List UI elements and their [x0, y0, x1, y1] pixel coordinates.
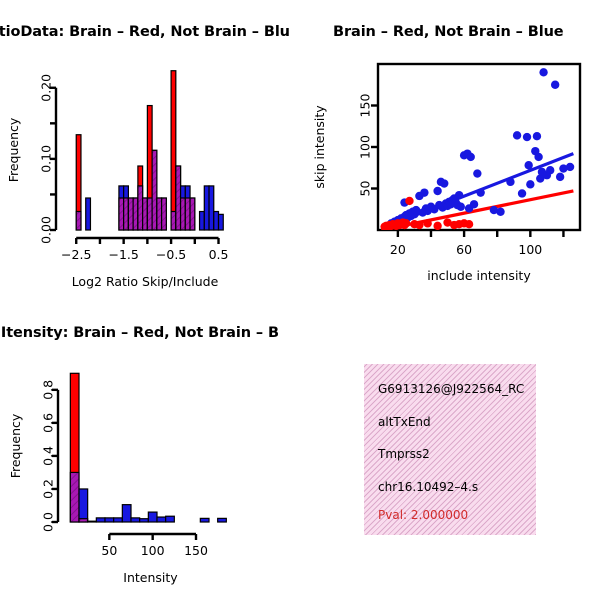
svg-text:0.8: 0.8: [41, 380, 56, 400]
svg-text:−2.5: −2.5: [61, 247, 91, 262]
info-line-probe-id: G6913126@J922564_RC: [378, 382, 536, 396]
scatter-svg: 501001502060100include intensityskip int…: [300, 50, 600, 300]
info-box-lines: G6913126@J922564_RC altTxEnd Tmprss2 chr…: [364, 364, 536, 535]
ratio-histogram-title: RatioData: Brain – Red, Not Brain – Blu: [0, 24, 290, 40]
svg-text:0.4: 0.4: [41, 446, 56, 466]
svg-text:Intensity: Intensity: [123, 570, 178, 585]
svg-text:Frequency: Frequency: [6, 117, 21, 182]
gene-intensity-title: ne Itensity: Brain – Red, Not Brain – B: [0, 325, 279, 341]
info-line-event-type: altTxEnd: [378, 415, 536, 429]
svg-text:include intensity: include intensity: [427, 268, 531, 283]
info-line-pval: Pval: 2.000000: [378, 508, 536, 522]
svg-text:0.00: 0.00: [39, 216, 54, 244]
scatter-title: Brain – Red, Not Brain – Blue: [333, 24, 564, 40]
svg-text:50: 50: [101, 543, 117, 558]
svg-text:−0.5: −0.5: [156, 247, 186, 262]
svg-text:50: 50: [358, 181, 373, 197]
svg-text:0.0: 0.0: [41, 512, 56, 532]
svg-text:0.2: 0.2: [41, 479, 56, 499]
svg-text:150: 150: [184, 543, 208, 558]
ratio-histogram-panel: 0.000.100.20−2.5−1.5−0.50.5Log2 Ratio Sk…: [0, 50, 260, 300]
annotation-info-box: G6913126@J922564_RC altTxEnd Tmprss2 chr…: [364, 364, 536, 535]
info-line-gene-symbol: Tmprss2: [378, 447, 536, 461]
svg-text:60: 60: [456, 242, 472, 257]
svg-text:20: 20: [390, 242, 406, 257]
info-line-coordinate: chr16.10492–4.s: [378, 480, 536, 494]
svg-text:skip intensity: skip intensity: [312, 105, 327, 189]
ratio-histogram-svg: 0.000.100.20−2.5−1.5−0.50.5Log2 Ratio Sk…: [0, 50, 260, 300]
svg-text:Log2 Ratio Skip/Include: Log2 Ratio Skip/Include: [72, 274, 219, 289]
svg-text:−1.5: −1.5: [108, 247, 138, 262]
svg-text:0.5: 0.5: [209, 247, 229, 262]
svg-text:100: 100: [141, 543, 165, 558]
svg-text:Frequency: Frequency: [8, 413, 23, 478]
svg-text:0.10: 0.10: [39, 145, 54, 173]
svg-text:0.20: 0.20: [39, 74, 54, 102]
scatter-panel: 501001502060100include intensityskip int…: [300, 50, 600, 300]
svg-text:100: 100: [518, 242, 542, 257]
svg-text:150: 150: [358, 94, 373, 118]
gene-intensity-svg: 0.00.20.40.60.850100150IntensityFrequenc…: [0, 352, 260, 600]
svg-text:0.6: 0.6: [41, 413, 56, 433]
gene-intensity-panel: 0.00.20.40.60.850100150IntensityFrequenc…: [0, 352, 260, 600]
svg-text:100: 100: [358, 135, 373, 159]
